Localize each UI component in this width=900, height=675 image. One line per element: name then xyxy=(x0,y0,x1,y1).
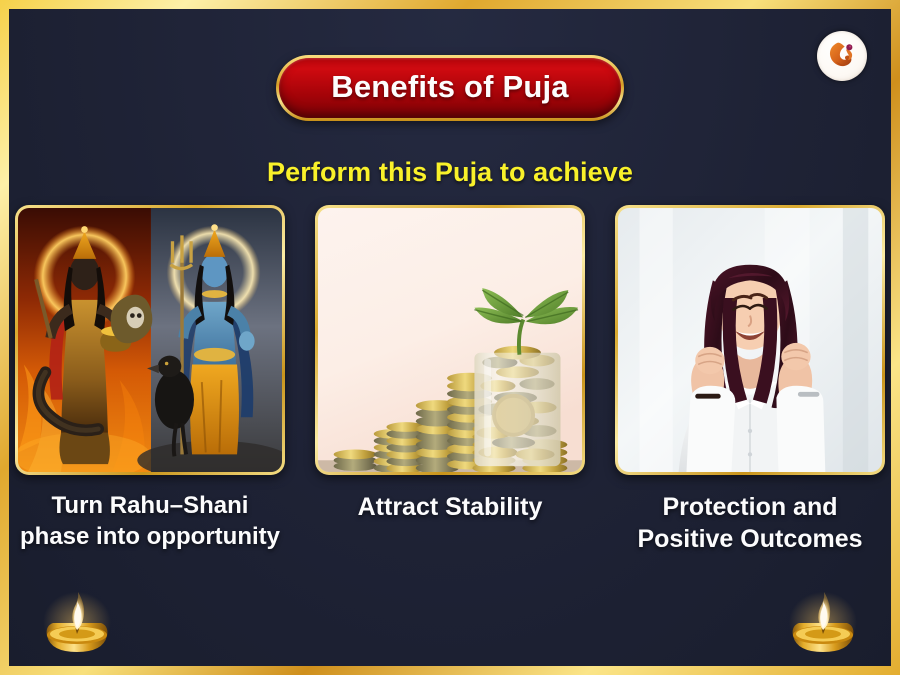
diya-lamp-icon xyxy=(777,586,869,664)
page-subtitle: Perform this Puja to achieve xyxy=(9,157,891,188)
diya-lamp-right xyxy=(777,586,869,664)
celebrating-woman-artwork xyxy=(618,208,882,472)
benefit-card-1: Turn Rahu–Shani phase into opportunity xyxy=(15,205,285,555)
diya-lamp-icon xyxy=(31,586,123,664)
page-title: Benefits of Puja xyxy=(331,69,568,105)
benefit-caption-2: Attract Stability xyxy=(358,491,543,523)
benefit-card-3: Protection and Positive Outcomes xyxy=(615,205,885,555)
title-pill-frame: Benefits of Puja xyxy=(276,55,623,121)
rahu-shani-artwork xyxy=(18,208,282,472)
rahu-shani-deities-image xyxy=(18,208,282,472)
benefit-caption-3: Protection and Positive Outcomes xyxy=(615,491,885,555)
happy-woman-image xyxy=(618,208,882,472)
title-pill-body: Benefits of Puja xyxy=(279,58,620,118)
poster-stage: Benefits of Puja Perform this Puja to ac… xyxy=(9,9,891,666)
coins-growth-artwork xyxy=(318,208,582,472)
benefits-card-row: Turn Rahu–Shani phase into opportunity xyxy=(9,205,891,555)
title-banner: Benefits of Puja xyxy=(9,55,891,121)
diya-lamp-left xyxy=(31,586,123,664)
coin-stacks-plant-image xyxy=(318,208,582,472)
benefit-caption-1: Turn Rahu–Shani phase into opportunity xyxy=(15,491,285,552)
happy-woman-image-frame xyxy=(615,205,885,475)
benefit-card-2: Attract Stability xyxy=(315,205,585,555)
poster-canvas: Benefits of Puja Perform this Puja to ac… xyxy=(0,0,900,675)
coin-stacks-plant-image-frame xyxy=(315,205,585,475)
rahu-shani-deities-image-frame xyxy=(15,205,285,475)
